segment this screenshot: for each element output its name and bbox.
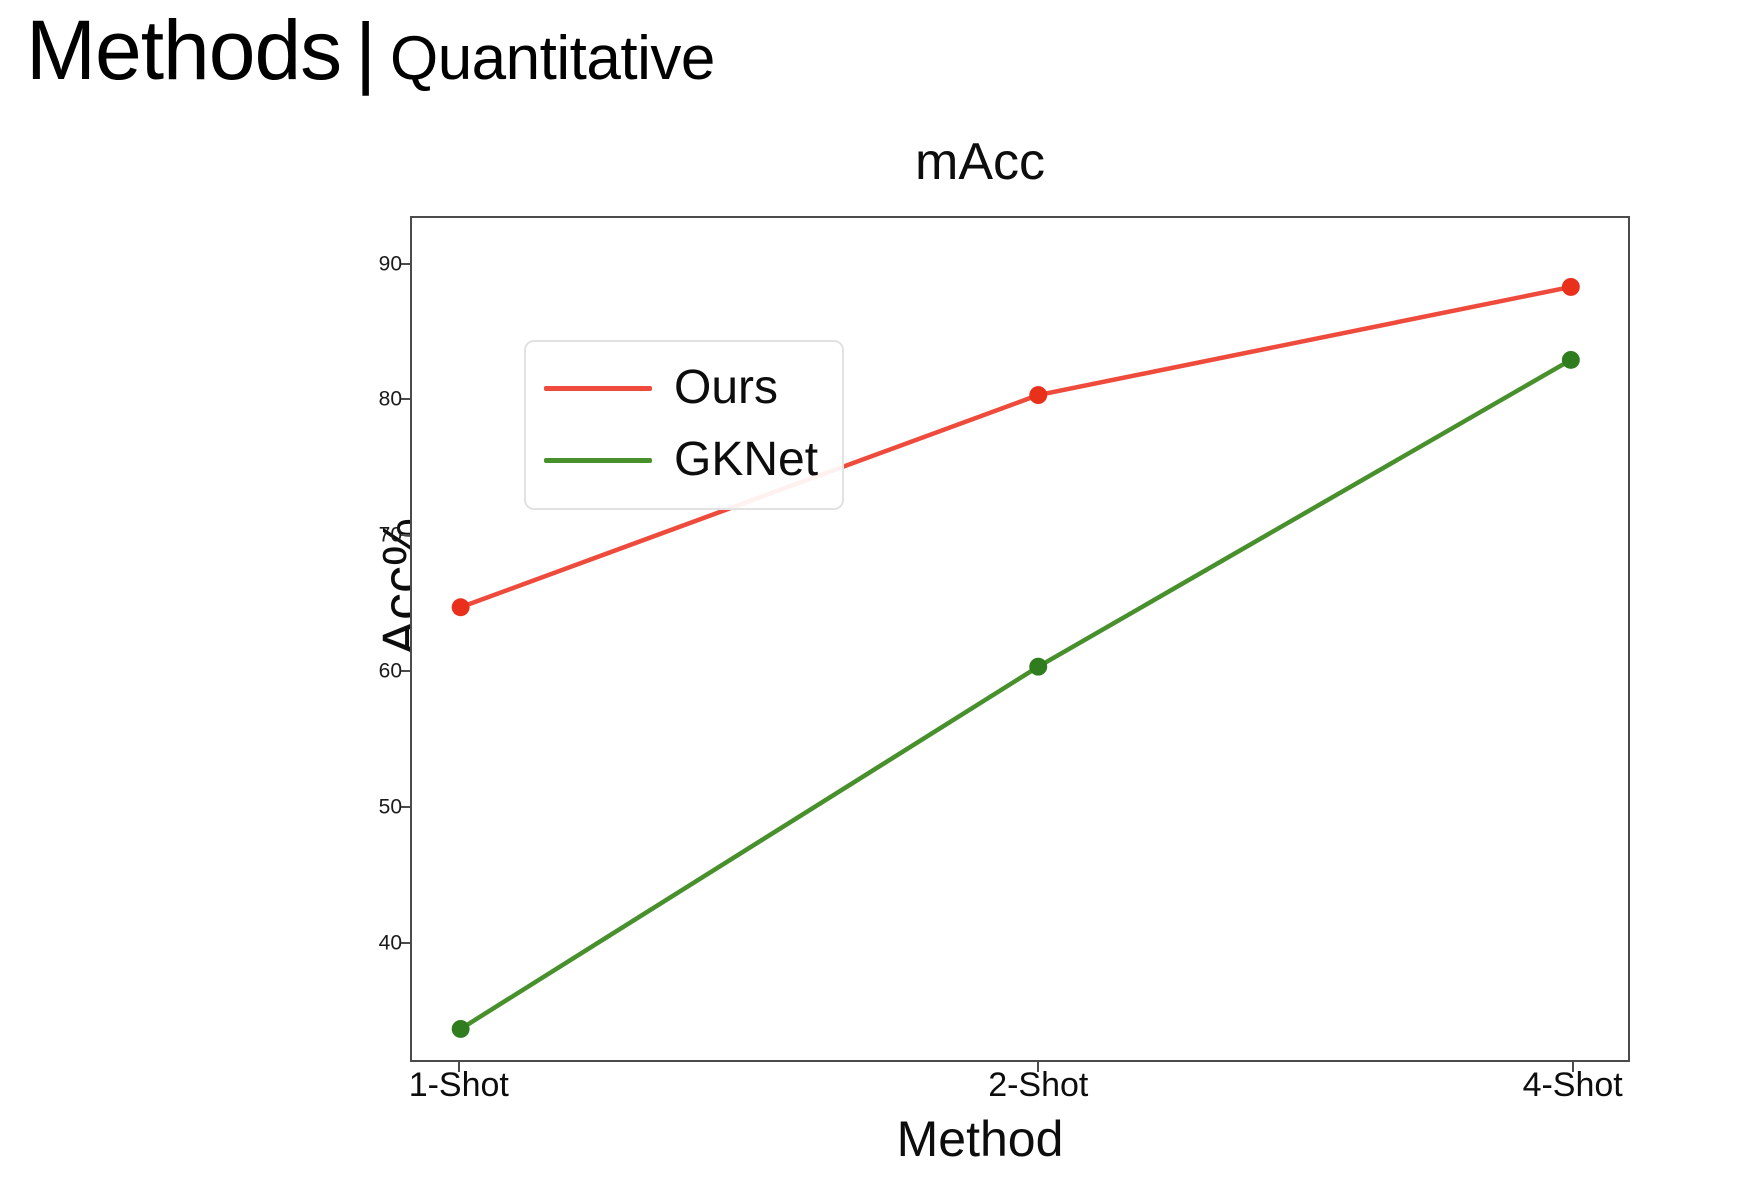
y-tick-mark — [401, 670, 410, 672]
x-axis-label: Method — [330, 1114, 1630, 1164]
y-tick-mark — [401, 942, 410, 944]
legend-swatch-gknet — [544, 458, 652, 463]
plot-area: Ours GKNet — [410, 216, 1630, 1062]
y-tick-label: 40 — [282, 932, 402, 953]
y-tick-mark — [401, 263, 410, 265]
x-tick-mark — [1037, 1062, 1039, 1072]
y-tick-label: 50 — [282, 796, 402, 817]
slide-title-separator: | — [355, 12, 376, 92]
y-tick-mark — [401, 534, 410, 536]
legend-label-gknet: GKNet — [674, 436, 818, 484]
slide-title-sub: Quantitative — [390, 28, 715, 90]
y-tick-label: 70 — [282, 525, 402, 546]
chart-legend: Ours GKNet — [524, 340, 844, 510]
chart-figure: mAcc Acc% 908070605040 1-Shot2-Shot4-Sho… — [330, 130, 1690, 1180]
data-point-ours-2-shot — [1029, 386, 1047, 404]
data-point-gknet-2-shot — [1029, 658, 1047, 676]
x-tick-mark — [458, 1062, 460, 1072]
y-tick-mark — [401, 398, 410, 400]
data-point-ours-4-shot — [1562, 278, 1580, 296]
data-point-gknet-1-shot — [452, 1020, 470, 1038]
y-tick-label: 80 — [282, 389, 402, 410]
slide-title: Methods | Quantitative — [26, 8, 715, 92]
x-tick-label: 4-Shot — [1443, 1068, 1703, 1102]
x-tick-mark — [1572, 1062, 1574, 1072]
chart-title: mAcc — [330, 136, 1630, 188]
y-tick-label: 90 — [282, 253, 402, 274]
legend-label-ours: Ours — [674, 364, 778, 412]
y-tick-label: 60 — [282, 660, 402, 681]
x-tick-label: 1-Shot — [329, 1068, 589, 1102]
legend-item-ours: Ours — [526, 352, 842, 424]
legend-swatch-ours — [544, 386, 652, 391]
slide-title-main: Methods — [26, 8, 341, 92]
legend-item-gknet: GKNet — [526, 424, 842, 496]
data-point-ours-1-shot — [452, 598, 470, 616]
y-tick-mark — [401, 806, 410, 808]
x-tick-label: 2-Shot — [908, 1068, 1168, 1102]
data-point-gknet-4-shot — [1562, 351, 1580, 369]
